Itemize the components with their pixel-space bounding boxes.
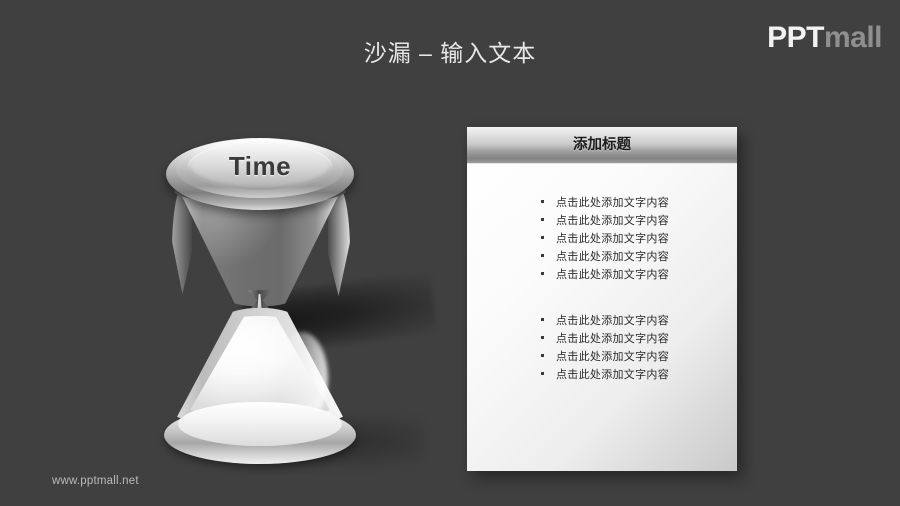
bullet-group: 点击此处添加文字内容点击此处添加文字内容点击此处添加文字内容点击此处添加文字内容… <box>467 193 737 283</box>
bullet-item-label: 点击此处添加文字内容 <box>556 269 669 281</box>
bullet-dot-icon <box>541 272 544 275</box>
logo-text-mall: mall <box>824 21 882 54</box>
bullet-item-label: 点击此处添加文字内容 <box>556 333 669 345</box>
hourglass-base-inner-rim <box>178 402 342 446</box>
hourglass-upper-glass-right-highlight <box>328 184 350 296</box>
pptmall-logo: PPTmall <box>767 22 882 54</box>
bullet-item[interactable]: 点击此处添加文字内容 <box>467 193 737 211</box>
bullet-dot-icon <box>541 236 544 239</box>
hourglass-cap-label: Time <box>188 142 332 190</box>
bullet-item[interactable]: 点击此处添加文字内容 <box>467 329 737 347</box>
page-title: 沙漏 – 输入文本 <box>0 38 900 68</box>
hourglass-graphic: Time <box>152 118 392 463</box>
bullet-dot-icon <box>541 372 544 375</box>
hourglass-upper-glass-left-highlight <box>172 184 192 294</box>
bullet-dot-icon <box>541 354 544 357</box>
bullet-item-label: 点击此处添加文字内容 <box>556 351 669 363</box>
bullet-item[interactable]: 点击此处添加文字内容 <box>467 211 737 229</box>
bullet-item-label: 点击此处添加文字内容 <box>556 233 669 245</box>
bullet-item-label: 点击此处添加文字内容 <box>556 251 669 263</box>
bullet-item-label: 点击此处添加文字内容 <box>556 215 669 227</box>
bullet-dot-icon <box>541 200 544 203</box>
panel-header-title[interactable]: 添加标题 <box>467 127 737 163</box>
footer-url: www.pptmall.net <box>52 475 139 487</box>
logo-text-ppt: PPT <box>767 21 824 54</box>
bullet-item-label: 点击此处添加文字内容 <box>556 369 669 381</box>
bullet-dot-icon <box>541 254 544 257</box>
bullet-item-label: 点击此处添加文字内容 <box>556 197 669 209</box>
content-panel: 添加标题 点击此处添加文字内容点击此处添加文字内容点击此处添加文字内容点击此处添… <box>467 127 737 471</box>
bullet-item[interactable]: 点击此处添加文字内容 <box>467 347 737 365</box>
bullet-group: 点击此处添加文字内容点击此处添加文字内容点击此处添加文字内容点击此处添加文字内容 <box>467 311 737 383</box>
bullet-dot-icon <box>541 336 544 339</box>
bullet-dot-icon <box>541 318 544 321</box>
bullet-dot-icon <box>541 218 544 221</box>
bullet-item[interactable]: 点击此处添加文字内容 <box>467 265 737 283</box>
bullet-item-label: 点击此处添加文字内容 <box>556 315 669 327</box>
bullet-item[interactable]: 点击此处添加文字内容 <box>467 311 737 329</box>
bullet-item[interactable]: 点击此处添加文字内容 <box>467 365 737 383</box>
slide-canvas: 沙漏 – 输入文本 PPTmall Time 添加标题 点击此处添加文字内容点击… <box>0 0 900 506</box>
bullet-groups: 点击此处添加文字内容点击此处添加文字内容点击此处添加文字内容点击此处添加文字内容… <box>467 193 737 383</box>
bullet-item[interactable]: 点击此处添加文字内容 <box>467 229 737 247</box>
bullet-item[interactable]: 点击此处添加文字内容 <box>467 247 737 265</box>
